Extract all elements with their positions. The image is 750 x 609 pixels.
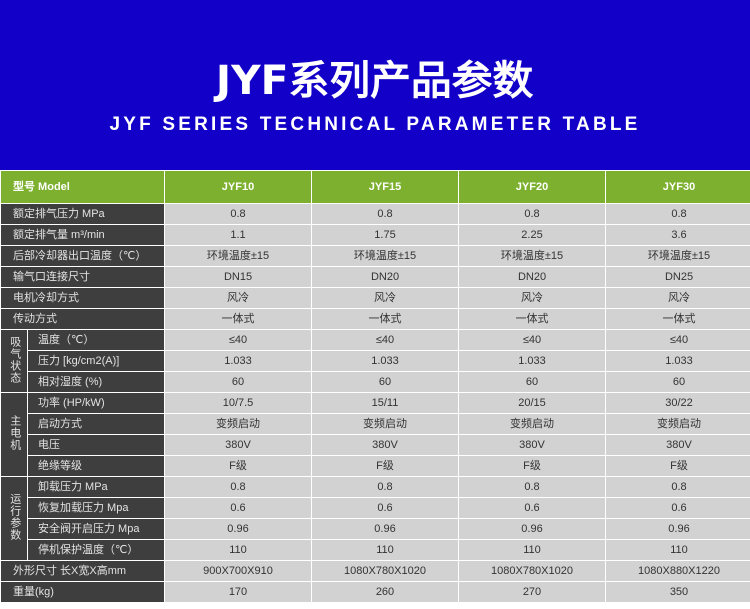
row-group-label: 主电机 <box>1 393 27 476</box>
cell-value: 170 <box>165 582 311 602</box>
row-label: 电机冷却方式 <box>1 288 164 308</box>
cell-value: 一体式 <box>606 309 750 329</box>
cell-value: 0.96 <box>459 519 605 539</box>
cell-value: 1.033 <box>606 351 750 371</box>
cell-value: 380V <box>606 435 750 455</box>
cell-value: 1080X780X1020 <box>459 561 605 581</box>
table-row: 压力 [kg/cm2(A)]1.0331.0331.0331.033 <box>1 351 750 371</box>
cell-value: 15/11 <box>312 393 458 413</box>
row-label: 传动方式 <box>1 309 164 329</box>
cell-value: 变频启动 <box>165 414 311 434</box>
table-row: 停机保护温度（℃）110110110110 <box>1 540 750 560</box>
cell-value: 变频启动 <box>312 414 458 434</box>
table-row: 后部冷却器出口温度（℃）环境温度±15环境温度±15环境温度±15环境温度±15 <box>1 246 750 266</box>
cell-value: 260 <box>312 582 458 602</box>
header-model-label: 型号 Model <box>1 171 164 203</box>
row-label: 卸载压力 MPa <box>28 477 164 497</box>
table-row: 安全阀开启压力 Mpa0.960.960.960.96 <box>1 519 750 539</box>
cell-value: 380V <box>459 435 605 455</box>
cell-value: 环境温度±15 <box>165 246 311 266</box>
cell-value: 10/7.5 <box>165 393 311 413</box>
table-row: 传动方式一体式一体式一体式一体式 <box>1 309 750 329</box>
row-label: 后部冷却器出口温度（℃） <box>1 246 164 266</box>
cell-value: 0.96 <box>312 519 458 539</box>
page-root: JYF系列产品参数 JYF SERIES TECHNICAL PARAMETER… <box>0 0 750 609</box>
cell-value: 0.6 <box>606 498 750 518</box>
table-header-row: 型号 ModelJYF10JYF15JYF20JYF30 <box>1 171 750 203</box>
row-group-label: 吸气状态 <box>1 330 27 392</box>
cell-value: 0.6 <box>459 498 605 518</box>
cell-value: ≤40 <box>606 330 750 350</box>
table-row: 主电机功率 (HP/kW)10/7.515/1120/1530/22 <box>1 393 750 413</box>
cell-value: 环境温度±15 <box>459 246 605 266</box>
cell-value: 900X700X910 <box>165 561 311 581</box>
cell-value: 380V <box>165 435 311 455</box>
row-label: 恢复加载压力 Mpa <box>28 498 164 518</box>
cell-value: 60 <box>459 372 605 392</box>
cell-value: 30/22 <box>606 393 750 413</box>
cell-value: 380V <box>312 435 458 455</box>
cell-value: 1080X780X1020 <box>312 561 458 581</box>
cell-value: 1080X880X1220 <box>606 561 750 581</box>
cell-value: 1.033 <box>165 351 311 371</box>
cell-value: 风冷 <box>606 288 750 308</box>
table-row: 电机冷却方式风冷风冷风冷风冷 <box>1 288 750 308</box>
row-label: 重量(kg) <box>1 582 164 602</box>
cell-value: ≤40 <box>165 330 311 350</box>
row-label: 安全阀开启压力 Mpa <box>28 519 164 539</box>
cell-value: F级 <box>606 456 750 476</box>
cell-value: 110 <box>165 540 311 560</box>
header-model-jyf15: JYF15 <box>312 171 458 203</box>
table-row: 外形尺寸 长X宽X高mm900X700X9101080X780X10201080… <box>1 561 750 581</box>
cell-value: DN25 <box>606 267 750 287</box>
cell-value: ≤40 <box>312 330 458 350</box>
page-banner: JYF系列产品参数 JYF SERIES TECHNICAL PARAMETER… <box>0 0 750 170</box>
cell-value: 0.8 <box>312 204 458 224</box>
cell-value: 60 <box>312 372 458 392</box>
cell-value: DN20 <box>459 267 605 287</box>
spec-table: 型号 ModelJYF10JYF15JYF20JYF30额定排气压力 MPa0.… <box>0 170 750 603</box>
cell-value: 变频启动 <box>459 414 605 434</box>
cell-value: 风冷 <box>312 288 458 308</box>
cell-value: F级 <box>165 456 311 476</box>
cell-value: 0.6 <box>312 498 458 518</box>
row-label: 电压 <box>28 435 164 455</box>
table-row: 绝缘等级F级F级F级F级 <box>1 456 750 476</box>
cell-value: 0.8 <box>606 204 750 224</box>
cell-value: 0.6 <box>165 498 311 518</box>
spec-table-wrapper: 型号 ModelJYF10JYF15JYF20JYF30额定排气压力 MPa0.… <box>0 170 750 603</box>
cell-value: DN15 <box>165 267 311 287</box>
row-label: 额定排气压力 MPa <box>1 204 164 224</box>
cell-value: 0.8 <box>606 477 750 497</box>
cell-value: 3.6 <box>606 225 750 245</box>
table-row: 重量(kg)170260270350 <box>1 582 750 602</box>
cell-value: 一体式 <box>165 309 311 329</box>
cell-value: 0.96 <box>606 519 750 539</box>
cell-value: 风冷 <box>459 288 605 308</box>
cell-value: 110 <box>312 540 458 560</box>
row-group-label: 运行参数 <box>1 477 27 560</box>
table-row: 运行参数卸载压力 MPa0.80.80.80.8 <box>1 477 750 497</box>
cell-value: 1.033 <box>312 351 458 371</box>
row-label: 输气口连接尺寸 <box>1 267 164 287</box>
cell-value: 20/15 <box>459 393 605 413</box>
cell-value: F级 <box>312 456 458 476</box>
cell-value: 一体式 <box>459 309 605 329</box>
table-row: 吸气状态温度（℃）≤40≤40≤40≤40 <box>1 330 750 350</box>
cell-value: 1.75 <box>312 225 458 245</box>
cell-value: 350 <box>606 582 750 602</box>
cell-value: 0.8 <box>165 204 311 224</box>
cell-value: 环境温度±15 <box>606 246 750 266</box>
cell-value: 0.8 <box>312 477 458 497</box>
row-label: 额定排气量 m³/min <box>1 225 164 245</box>
cell-value: F级 <box>459 456 605 476</box>
table-row: 恢复加载压力 Mpa0.60.60.60.6 <box>1 498 750 518</box>
row-label: 相对湿度 (%) <box>28 372 164 392</box>
cell-value: 60 <box>165 372 311 392</box>
row-label: 温度（℃） <box>28 330 164 350</box>
cell-value: 风冷 <box>165 288 311 308</box>
banner-title-chinese: JYF系列产品参数 <box>216 60 533 102</box>
table-row: 电压380V380V380V380V <box>1 435 750 455</box>
table-row: 相对湿度 (%)60606060 <box>1 372 750 392</box>
table-row: 额定排气压力 MPa0.80.80.80.8 <box>1 204 750 224</box>
header-model-jyf30: JYF30 <box>606 171 750 203</box>
cell-value: DN20 <box>312 267 458 287</box>
banner-title-english: JYF SERIES TECHNICAL PARAMETER TABLE <box>109 114 640 136</box>
cell-value: 1.033 <box>459 351 605 371</box>
header-model-jyf10: JYF10 <box>165 171 311 203</box>
cell-value: 110 <box>459 540 605 560</box>
cell-value: 60 <box>606 372 750 392</box>
cell-value: 0.8 <box>459 477 605 497</box>
cell-value: 0.96 <box>165 519 311 539</box>
cell-value: 一体式 <box>312 309 458 329</box>
cell-value: ≤40 <box>459 330 605 350</box>
row-label: 压力 [kg/cm2(A)] <box>28 351 164 371</box>
table-row: 启动方式变频启动变频启动变频启动变频启动 <box>1 414 750 434</box>
cell-value: 2.25 <box>459 225 605 245</box>
cell-value: 变频启动 <box>606 414 750 434</box>
cell-value: 0.8 <box>459 204 605 224</box>
table-row: 输气口连接尺寸DN15DN20DN20DN25 <box>1 267 750 287</box>
cell-value: 0.8 <box>165 477 311 497</box>
cell-value: 1.1 <box>165 225 311 245</box>
row-label: 功率 (HP/kW) <box>28 393 164 413</box>
row-label: 停机保护温度（℃） <box>28 540 164 560</box>
cell-value: 110 <box>606 540 750 560</box>
header-model-jyf20: JYF20 <box>459 171 605 203</box>
table-row: 额定排气量 m³/min1.11.752.253.6 <box>1 225 750 245</box>
row-label: 外形尺寸 长X宽X高mm <box>1 561 164 581</box>
cell-value: 环境温度±15 <box>312 246 458 266</box>
cell-value: 270 <box>459 582 605 602</box>
row-label: 启动方式 <box>28 414 164 434</box>
row-label: 绝缘等级 <box>28 456 164 476</box>
